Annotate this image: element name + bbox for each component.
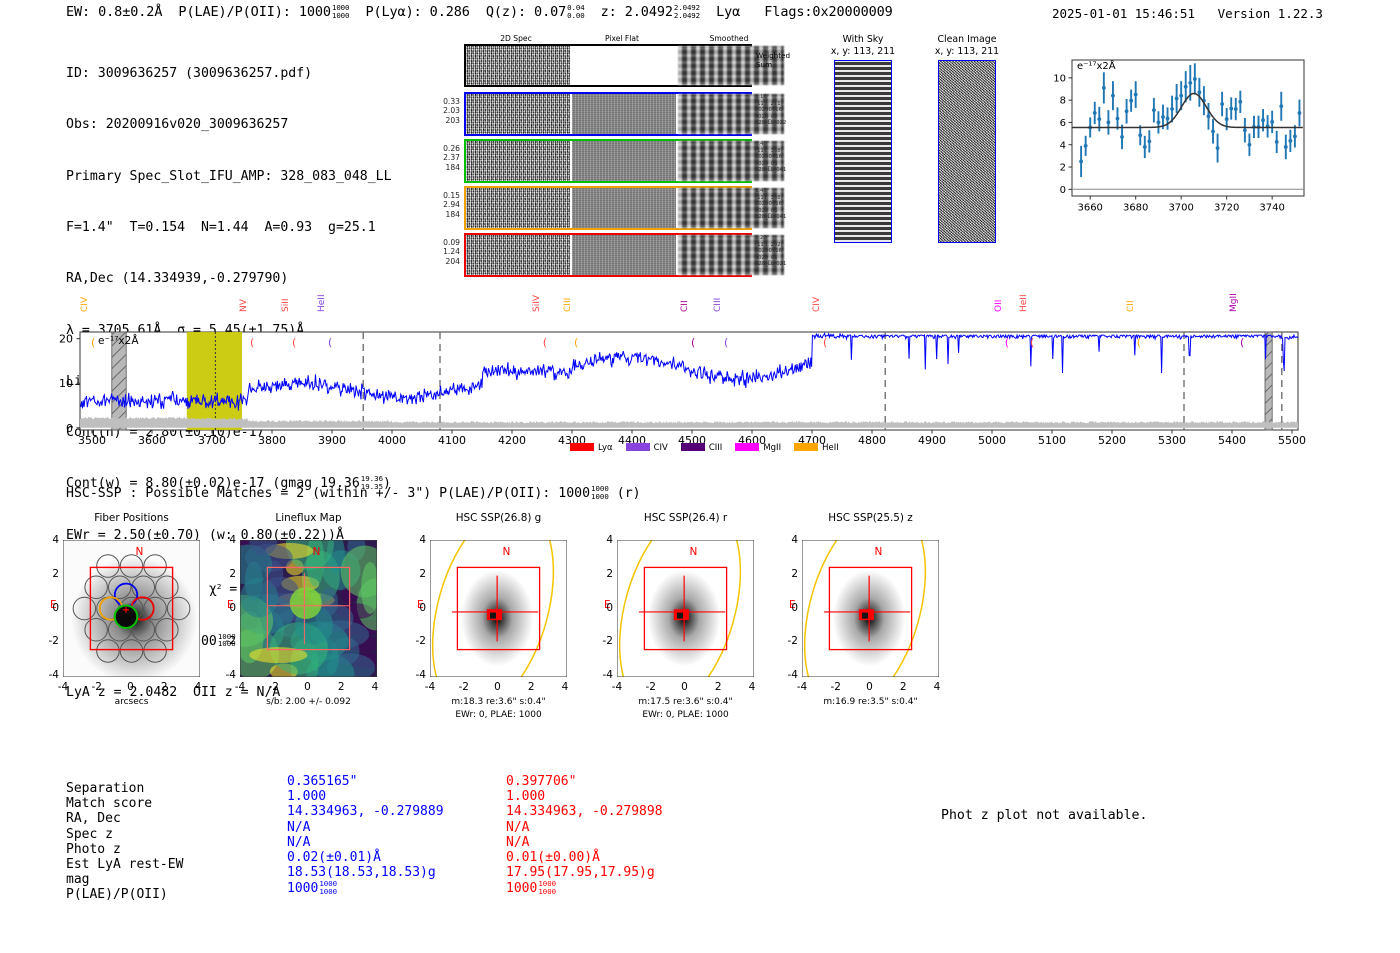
fiber-row-meta: 1.20"(113, 202)20200916v020_01328_LL_021 bbox=[755, 235, 786, 268]
emission-line-marker: CIV bbox=[80, 297, 90, 312]
cutout-y-tick: 0 bbox=[778, 602, 798, 614]
fiber-stat: 2.94 bbox=[424, 200, 460, 209]
match-row-label: Est LyA rest-EW bbox=[66, 857, 183, 872]
fiber-meta-line: v020_02 bbox=[755, 114, 786, 121]
fiber-stat: 203 bbox=[424, 116, 460, 125]
cutout-title: HSC SSP(26.4) r bbox=[597, 512, 774, 524]
fiber-stat: 0.15 bbox=[424, 191, 460, 200]
montage-column-title: Smoothed bbox=[707, 34, 751, 43]
match-row-label: Separation bbox=[66, 781, 144, 796]
emission-line-bracket: ( bbox=[328, 336, 332, 349]
cutout-caption: s/b: 2.00 +/- 0.092 bbox=[202, 696, 415, 709]
fiber-stat: 2.37 bbox=[424, 153, 460, 162]
match-row-value: N/A bbox=[506, 820, 529, 835]
svg-text:3660: 3660 bbox=[1077, 203, 1102, 214]
emission-line-marker: HeII bbox=[1019, 294, 1029, 312]
legend-swatch bbox=[570, 443, 594, 451]
fiber-row-stats: 0.262.37184 bbox=[424, 144, 460, 172]
fiber-stat: 0.26 bbox=[424, 144, 460, 153]
fiber-meta-line: 1.16" bbox=[755, 94, 786, 101]
cutout-x-tick: 0 bbox=[485, 681, 511, 693]
cutout-y-tick: -2 bbox=[39, 635, 59, 647]
cutout-x-tick: -4 bbox=[604, 681, 630, 693]
version: Version 1.22.3 bbox=[1218, 6, 1323, 21]
svg-text:4: 4 bbox=[1060, 140, 1066, 151]
cutout-caption-line: EWr: 0, PLAE: 1000 bbox=[579, 709, 792, 722]
fiber-stat: 0.33 bbox=[424, 97, 460, 106]
cutout-x-tick: 2 bbox=[518, 681, 544, 693]
cutout-y-tick: -4 bbox=[593, 669, 613, 681]
cutout-x-tick: -2 bbox=[451, 681, 477, 693]
match-row-value: 100010001000 bbox=[287, 880, 337, 896]
fiber-meta-line: 328_LL_041 bbox=[755, 214, 786, 221]
z-value: 2.0492 bbox=[625, 4, 673, 20]
fiber-row bbox=[464, 92, 752, 136]
fiber-row-meta: 0.40"(111, 388)20200916v020_03328_LL_041 bbox=[755, 141, 786, 174]
svg-text:0: 0 bbox=[1060, 185, 1066, 196]
match-row-value: 0.397706" bbox=[506, 774, 576, 789]
photz-message: Phot z plot not available. bbox=[941, 808, 1147, 823]
cutout-y-tick: 4 bbox=[39, 534, 59, 546]
fiber-meta-line: 1.45" bbox=[755, 188, 786, 195]
cutout-y-tick: 4 bbox=[593, 534, 613, 546]
match-plae-range: 10001000 bbox=[319, 880, 337, 895]
emission-line-bracket: ( bbox=[1240, 336, 1244, 349]
legend-entry: CIV bbox=[626, 443, 668, 453]
match-row-value: N/A bbox=[287, 820, 310, 835]
hsc-header-prefix: HSC-SSP : Possible Matches = 2 (within +… bbox=[66, 486, 558, 501]
legend-label: CIII bbox=[709, 443, 722, 453]
emission-line-marker: CIII bbox=[713, 298, 723, 312]
plya-value: 0.286 bbox=[430, 4, 470, 20]
thumbnail-image bbox=[834, 60, 892, 243]
cutout-x-tick: 2 bbox=[151, 681, 177, 693]
fiber-meta-line: 20200916 bbox=[755, 201, 786, 208]
montage-cell bbox=[572, 141, 676, 181]
montage-column-title: 2D Spec bbox=[494, 34, 538, 43]
fiber-row-meta: 1.45"(111, 388)20200916v020_01328_LL_041 bbox=[755, 188, 786, 221]
fiber-stat: 204 bbox=[424, 257, 460, 266]
cutout-y-tick: 2 bbox=[406, 568, 426, 580]
fiber-row-stats: 0.332.03203 bbox=[424, 97, 460, 125]
emission-line-marker: NV bbox=[239, 299, 249, 312]
fiber-stat: 0.09 bbox=[424, 238, 460, 247]
cutout-caption: m:18.3 re:3.6" s:0.4"EWr: 0, PLAE: 1000 bbox=[392, 696, 605, 721]
match-row-value: N/A bbox=[287, 835, 310, 850]
plae-label: P(LAE)/P(OII): bbox=[178, 4, 290, 20]
hsc-header-suffix: (r) bbox=[609, 486, 641, 501]
flags: Flags:0x20000009 bbox=[764, 4, 892, 20]
emission-line-bracket: ( bbox=[543, 336, 547, 349]
fiber-row-stats: 0.152.94184 bbox=[424, 191, 460, 219]
emission-line-bracket: ( bbox=[691, 336, 695, 349]
cutout-panels: Fiber PositionsNE420-2-4-4-2024arcsecsLi… bbox=[0, 512, 1400, 727]
cutout-y-tick: 0 bbox=[593, 602, 613, 614]
emission-line-marker: MgII bbox=[1229, 293, 1239, 312]
thumbnail-pixels bbox=[939, 61, 995, 242]
match-row-value: 100010001000 bbox=[506, 880, 556, 896]
svg-text:5400: 5400 bbox=[1218, 434, 1246, 447]
summary-header: EW: 0.8±0.2Å P(LAE)/P(OII): 100010001000… bbox=[66, 4, 893, 20]
cutout-x-tick: -2 bbox=[84, 681, 110, 693]
thumbnail-coords: x, y: 113, 211 bbox=[820, 46, 906, 58]
report-stamp: 2025-01-01 15:46:51 Version 1.22.3 bbox=[1052, 6, 1323, 21]
compass-north: N bbox=[136, 546, 144, 558]
emission-line-bracket: ( bbox=[91, 336, 95, 349]
legend-label: Lyα bbox=[598, 443, 613, 453]
fiber-meta-line: 0.40" bbox=[755, 141, 786, 148]
legend-label: CIV bbox=[654, 443, 668, 453]
svg-text:5300: 5300 bbox=[1158, 434, 1186, 447]
match-row-label: Spec z bbox=[66, 827, 113, 842]
cutout-y-tick: -4 bbox=[39, 669, 59, 681]
cutout-x-tick: 2 bbox=[890, 681, 916, 693]
cutout-y-tick: 0 bbox=[406, 602, 426, 614]
montage-cell bbox=[572, 46, 676, 85]
hsc-header-value: 1000 bbox=[558, 486, 590, 501]
qz-value: 0.07 bbox=[534, 4, 566, 20]
cutout-x-tick: 4 bbox=[739, 681, 765, 693]
thumbnail-coords: x, y: 113, 211 bbox=[924, 46, 1010, 58]
thumbnail-pixels bbox=[835, 61, 891, 242]
fiber-meta-line: 328_LL_022 bbox=[755, 120, 786, 127]
cutout-title: HSC SSP(25.5) z bbox=[782, 512, 959, 524]
thumbnail-image bbox=[938, 60, 996, 243]
cutout-caption-line: s/b: 2.00 +/- 0.092 bbox=[202, 696, 415, 709]
image-thumbnails: With Skyx, y: 113, 211Clean Imagex, y: 1… bbox=[820, 34, 1020, 249]
thumbnail-title: Clean Imagex, y: 113, 211 bbox=[924, 34, 1010, 57]
fiber-row bbox=[464, 233, 752, 277]
cutout-image bbox=[63, 540, 200, 677]
svg-text:5000: 5000 bbox=[978, 434, 1006, 447]
cutout-x-tick: 2 bbox=[328, 681, 354, 693]
cutout-x-tick: -4 bbox=[789, 681, 815, 693]
montage-column-title: Pixel Flat bbox=[600, 34, 644, 43]
legend-swatch bbox=[626, 443, 650, 451]
cutout-caption-line: m:17.5 re:3.6" s:0.4" bbox=[579, 696, 792, 709]
info-id: ID: 3009636257 (3009636257.pdf) bbox=[66, 65, 392, 82]
emission-line-marker: CIV bbox=[812, 297, 822, 312]
ew-value: 0.8±0.2Å bbox=[98, 4, 162, 20]
match-plae-range: 10001000 bbox=[538, 880, 556, 895]
match-row-value: 0.01(±0.00)Å bbox=[506, 850, 600, 865]
match-row-value: 0.365165" bbox=[287, 774, 357, 789]
svg-text:20: 20 bbox=[59, 333, 73, 346]
emission-line-bracket: ( bbox=[292, 336, 296, 349]
cutout-caption: m:16.9 re:3.5" s:0.4" bbox=[764, 696, 977, 709]
emission-line-marker: CIII bbox=[563, 298, 573, 312]
emission-line-zoom-plot: 024681036603680370037203740e⁻¹⁷x2Å bbox=[1038, 52, 1310, 222]
legend-entry: Lyα bbox=[570, 443, 613, 453]
svg-text:4800: 4800 bbox=[858, 434, 886, 447]
legend-entry: MgII bbox=[735, 443, 781, 453]
match-row-value: N/A bbox=[506, 835, 529, 850]
svg-text:3900: 3900 bbox=[318, 434, 346, 447]
qz-label: Q(z): bbox=[486, 4, 526, 20]
weighted-sum-line: Sum bbox=[756, 61, 790, 70]
fiber-meta-line: 20200916 bbox=[755, 154, 786, 161]
fiber-row bbox=[464, 139, 752, 183]
spectrum-legend: LyαCIVCIIIMgIIHeII bbox=[570, 443, 839, 453]
svg-text:5100: 5100 bbox=[1038, 434, 1066, 447]
legend-swatch bbox=[681, 443, 705, 451]
fiber-stat: 2.03 bbox=[424, 106, 460, 115]
emission-line-marker: SiIV bbox=[532, 295, 542, 312]
cutout-title: Lineflux Map bbox=[220, 512, 397, 524]
timestamp: 2025-01-01 15:46:51 bbox=[1052, 6, 1195, 21]
z-label: z: bbox=[601, 4, 617, 20]
fiber-stat: 184 bbox=[424, 163, 460, 172]
match-plae-value: 1000 bbox=[287, 882, 318, 897]
match-row-value: 17.95(17.95,17.95)g bbox=[506, 865, 655, 880]
emission-line-bracket: ( bbox=[1137, 336, 1141, 349]
svg-text:4000: 4000 bbox=[378, 434, 406, 447]
info-seeing: F=1.4" T=0.154 N=1.44 A=0.93 g=25.1 bbox=[66, 219, 392, 236]
cutout-caption-line: EWr: 0, PLAE: 1000 bbox=[392, 709, 605, 722]
cutout-y-tick: 2 bbox=[39, 568, 59, 580]
emission-line-bracket: ( bbox=[724, 336, 728, 349]
legend-swatch bbox=[735, 443, 759, 451]
match-row-label: Photo z bbox=[66, 842, 121, 857]
info-obs: Obs: 20200916v020_3009636257 bbox=[66, 116, 392, 133]
match-row-value: 1.000 bbox=[287, 789, 326, 804]
compass-north: N bbox=[875, 546, 883, 558]
cutout-y-tick: -2 bbox=[216, 635, 236, 647]
cutout-caption: m:17.5 re:3.6" s:0.4"EWr: 0, PLAE: 1000 bbox=[579, 696, 792, 721]
emission-line-bracket: ( bbox=[1030, 336, 1034, 349]
svg-text:5200: 5200 bbox=[1098, 434, 1126, 447]
match-plae-value: 1000 bbox=[506, 882, 537, 897]
emission-line-bracket: ( bbox=[823, 336, 827, 349]
svg-text:6: 6 bbox=[1060, 118, 1066, 129]
weighted-sum-label: WeightedSum bbox=[756, 52, 790, 69]
legend-label: MgII bbox=[763, 443, 781, 453]
cutout-y-tick: 4 bbox=[778, 534, 798, 546]
cutout-x-tick: 4 bbox=[362, 681, 388, 693]
svg-text:3800: 3800 bbox=[258, 434, 286, 447]
fiber-meta-line: (113, 211) bbox=[755, 101, 786, 108]
cutout-x-tick: -2 bbox=[261, 681, 287, 693]
cutout-y-tick: -4 bbox=[216, 669, 236, 681]
fiber-meta-line: (111, 388) bbox=[755, 195, 786, 202]
svg-text:4100: 4100 bbox=[438, 434, 466, 447]
match-row-value: 18.53(18.53,18.53)g bbox=[287, 865, 436, 880]
cutout-y-tick: 0 bbox=[39, 602, 59, 614]
cutout-image bbox=[240, 540, 377, 677]
spectrum-flux-units: e⁻¹⁷x2Å bbox=[98, 335, 139, 347]
montage-cell bbox=[572, 188, 676, 228]
cutout-x-tick: 0 bbox=[295, 681, 321, 693]
info-radec: RA,Dec (14.334939,-0.279790) bbox=[66, 270, 392, 287]
cutout-y-tick: -2 bbox=[778, 635, 798, 647]
fiber-meta-line: 328_LL_041 bbox=[755, 167, 786, 174]
fiber-meta-line: 328_LL_021 bbox=[755, 261, 786, 268]
zoom-plot-flux-units: e⁻¹⁷x2Å bbox=[1077, 61, 1116, 72]
legend-swatch bbox=[794, 443, 818, 451]
match-row-label: P(LAE)/P(OII) bbox=[66, 887, 168, 902]
emission-line-bracket: ( bbox=[574, 336, 578, 349]
svg-text:4200: 4200 bbox=[498, 434, 526, 447]
svg-text:3600: 3600 bbox=[138, 434, 166, 447]
fiber-meta-line: v020_01 bbox=[755, 208, 786, 215]
svg-text:3700: 3700 bbox=[1168, 203, 1193, 214]
match-row-label: RA, Dec bbox=[66, 811, 121, 826]
cutout-x-tick: 4 bbox=[552, 681, 578, 693]
svg-text:10: 10 bbox=[1053, 73, 1066, 84]
fiber-meta-line: v020_01 bbox=[755, 255, 786, 262]
thumbnail-name: With Sky bbox=[820, 34, 906, 46]
fiber-meta-line: (113, 202) bbox=[755, 242, 786, 249]
z-type: Lyα bbox=[716, 4, 740, 20]
emission-line-marker: CII bbox=[680, 300, 690, 312]
fiber-meta-line: v020_03 bbox=[755, 161, 786, 168]
cutout-x-tick: 0 bbox=[672, 681, 698, 693]
emission-line-marker: HeII bbox=[317, 294, 327, 312]
emission-line-bracket: ( bbox=[1005, 336, 1009, 349]
match-row-value: 14.334963, -0.279889 bbox=[287, 804, 444, 819]
cutout-caption-line: m:16.9 re:3.5" s:0.4" bbox=[764, 696, 977, 709]
z-range: 2.04922.0492 bbox=[674, 4, 700, 19]
emission-line-bracket: ( bbox=[250, 336, 254, 349]
qz-range: 0.040.00 bbox=[567, 4, 584, 19]
montage-cell bbox=[466, 94, 570, 134]
cutout-x-tick: -4 bbox=[417, 681, 443, 693]
svg-text:3680: 3680 bbox=[1123, 203, 1148, 214]
fiber-row-stats: 0.091.24204 bbox=[424, 238, 460, 266]
fiber-row-meta: 1.16"(113, 211)20200916v020_02328_LL_022 bbox=[755, 94, 786, 127]
full-spectrum-plot: 0102035003600370038003900400041004200430… bbox=[80, 332, 1298, 430]
cutout-x-tick: -2 bbox=[823, 681, 849, 693]
svg-text:3700: 3700 bbox=[198, 434, 226, 447]
svg-text:4900: 4900 bbox=[918, 434, 946, 447]
cutout-x-tick: -2 bbox=[638, 681, 664, 693]
plae-value: 1000 bbox=[299, 4, 331, 20]
cutout-y-tick: 0 bbox=[216, 602, 236, 614]
plya-label: P(Lyα): bbox=[365, 4, 421, 20]
cutout-caption-line: m:18.3 re:3.6" s:0.4" bbox=[392, 696, 605, 709]
compass-north: N bbox=[313, 546, 321, 558]
info-slot: Primary Spec_Slot_IFU_AMP: 328_083_048_L… bbox=[66, 168, 392, 185]
svg-text:0: 0 bbox=[66, 422, 73, 435]
emission-line-marker: OII bbox=[994, 300, 1004, 312]
emission-line-marker: CII bbox=[1126, 300, 1136, 312]
svg-text:5500: 5500 bbox=[1278, 434, 1306, 447]
legend-entry: CIII bbox=[681, 443, 722, 453]
hsc-header-range: 10001000 bbox=[591, 485, 609, 500]
match-row-value: 14.334963, -0.279898 bbox=[506, 804, 663, 819]
legend-label: HeII bbox=[822, 443, 839, 453]
montage-cell bbox=[466, 188, 570, 228]
cutout-y-tick: 4 bbox=[216, 534, 236, 546]
match-row-label: mag bbox=[66, 872, 89, 887]
fiber-stat: 1.24 bbox=[424, 247, 460, 256]
cutout-x-tick: 0 bbox=[857, 681, 883, 693]
svg-text:3740: 3740 bbox=[1259, 203, 1284, 214]
cutout-x-tick: 4 bbox=[185, 681, 211, 693]
cutout-y-tick: 4 bbox=[406, 534, 426, 546]
thumbnail-name: Clean Image bbox=[924, 34, 1010, 46]
cutout-title: Fiber Positions bbox=[43, 512, 220, 524]
fiber-meta-line: 20200916 bbox=[755, 248, 786, 255]
cutout-title: HSC SSP(26.8) g bbox=[410, 512, 587, 524]
ew-label: EW: bbox=[66, 4, 90, 20]
svg-text:3500: 3500 bbox=[78, 434, 106, 447]
cutout-x-tick: 0 bbox=[118, 681, 144, 693]
montage-cell bbox=[466, 46, 570, 85]
svg-text:8: 8 bbox=[1060, 96, 1066, 107]
compass-north: N bbox=[690, 546, 698, 558]
svg-text:2: 2 bbox=[1060, 163, 1066, 174]
cutout-y-tick: 2 bbox=[593, 568, 613, 580]
cutout-y-tick: -2 bbox=[406, 635, 426, 647]
cutout-y-tick: -4 bbox=[778, 669, 798, 681]
cutout-y-tick: -2 bbox=[593, 635, 613, 647]
cutout-x-tick: -4 bbox=[227, 681, 253, 693]
legend-entry: HeII bbox=[794, 443, 839, 453]
montage-cell bbox=[466, 141, 570, 181]
match-row-label: Match score bbox=[66, 796, 152, 811]
cutout-image bbox=[802, 540, 939, 677]
cutout-x-tick: 4 bbox=[924, 681, 950, 693]
match-row-value: 1.000 bbox=[506, 789, 545, 804]
cutout-y-tick: -4 bbox=[406, 669, 426, 681]
fiber-row bbox=[464, 186, 752, 230]
emission-line-marker: SiII bbox=[281, 298, 291, 312]
plae-range: 10001000 bbox=[332, 4, 349, 19]
cutout-x-tick: 2 bbox=[705, 681, 731, 693]
fiber-stat: 184 bbox=[424, 210, 460, 219]
fiber-meta-line: 20200916 bbox=[755, 107, 786, 114]
cutout-y-tick: 2 bbox=[778, 568, 798, 580]
thumbnail-title: With Skyx, y: 113, 211 bbox=[820, 34, 906, 57]
montage-cell bbox=[466, 235, 570, 275]
svg-text:3720: 3720 bbox=[1214, 203, 1239, 214]
cutout-image bbox=[617, 540, 754, 677]
compass-north: N bbox=[503, 546, 511, 558]
cutout-image bbox=[430, 540, 567, 677]
montage-cell bbox=[572, 235, 676, 275]
fiber-meta-line: 1.20" bbox=[755, 235, 786, 242]
svg-text:10: 10 bbox=[59, 377, 73, 390]
weighted-sum-row bbox=[464, 44, 752, 87]
hsc-match-header: HSC-SSP : Possible Matches = 2 (within +… bbox=[66, 485, 641, 501]
cutout-y-tick: 2 bbox=[216, 568, 236, 580]
match-row-value: 0.02(±0.01)Å bbox=[287, 850, 381, 865]
cutout-x-tick: -4 bbox=[50, 681, 76, 693]
fiber-meta-line: (111, 388) bbox=[755, 148, 786, 155]
montage-cell bbox=[572, 94, 676, 134]
